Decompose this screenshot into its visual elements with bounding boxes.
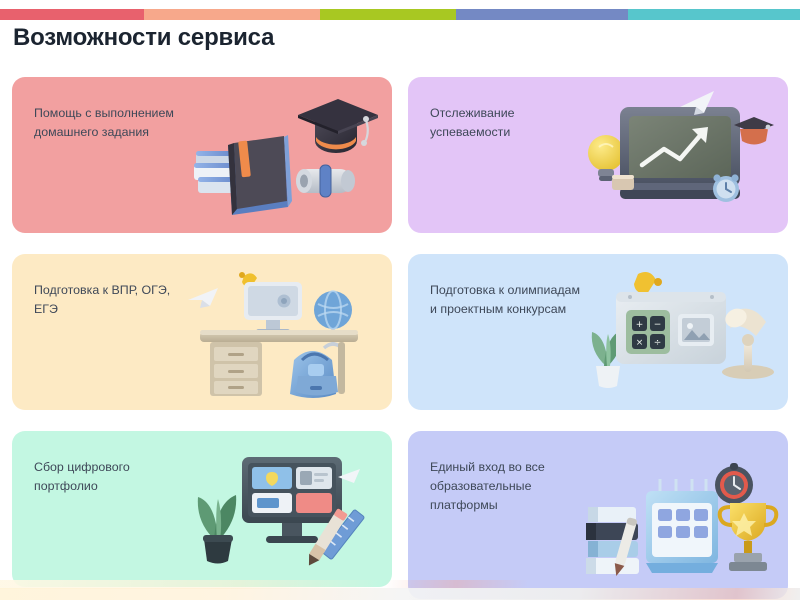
color-bar-segment-red: [0, 9, 144, 20]
next-slide-bleed: [0, 588, 800, 600]
svg-text:−: −: [654, 320, 662, 330]
svg-text:+: +: [636, 320, 644, 330]
desk-monitor-globe-backpack-icon: [188, 266, 384, 406]
graduation-cap-books-diploma-icon: [188, 89, 384, 229]
feature-card-exam-prep[interactable]: Подготовка к ВПР, ОГЭ, ЕГЭ: [12, 254, 392, 410]
slide-canvas: Возможности сервиса Помощь с выполнением…: [0, 0, 800, 600]
page-title: Возможности сервиса: [13, 24, 274, 52]
feature-card-homework-help[interactable]: Помощь с выполнением домашнего задания: [12, 77, 392, 233]
feature-card-digital-portfolio[interactable]: Сбор цифрового портфолио: [12, 431, 392, 587]
feature-card-single-sign-on[interactable]: Единый вход во все образовательные платф…: [408, 431, 788, 599]
color-bar-segment-teal: [628, 9, 800, 20]
feature-card-progress-tracking[interactable]: Отслеживание успеваемости: [408, 77, 788, 233]
feature-card-grid: Помощь с выполнением домашнего задания: [12, 77, 788, 599]
svg-text:÷: ÷: [654, 338, 662, 348]
color-bar-segment-peach: [144, 9, 320, 20]
books-calendar-trophy-icon: [584, 455, 780, 595]
chalkboard-chart-bulb-icon: [584, 89, 780, 229]
feature-card-olympiad-prep[interactable]: Подготовка к олимпиадам и проектным конк…: [408, 254, 788, 410]
svg-text:×: ×: [636, 338, 644, 348]
color-bar-segment-lime: [320, 9, 456, 20]
decorative-color-bar: [0, 9, 800, 20]
calculator-board-lamp-plant-icon: +− ×÷: [584, 266, 780, 406]
monitor-plant-pencil-icon: [188, 443, 384, 583]
color-bar-segment-indigo: [456, 9, 628, 20]
